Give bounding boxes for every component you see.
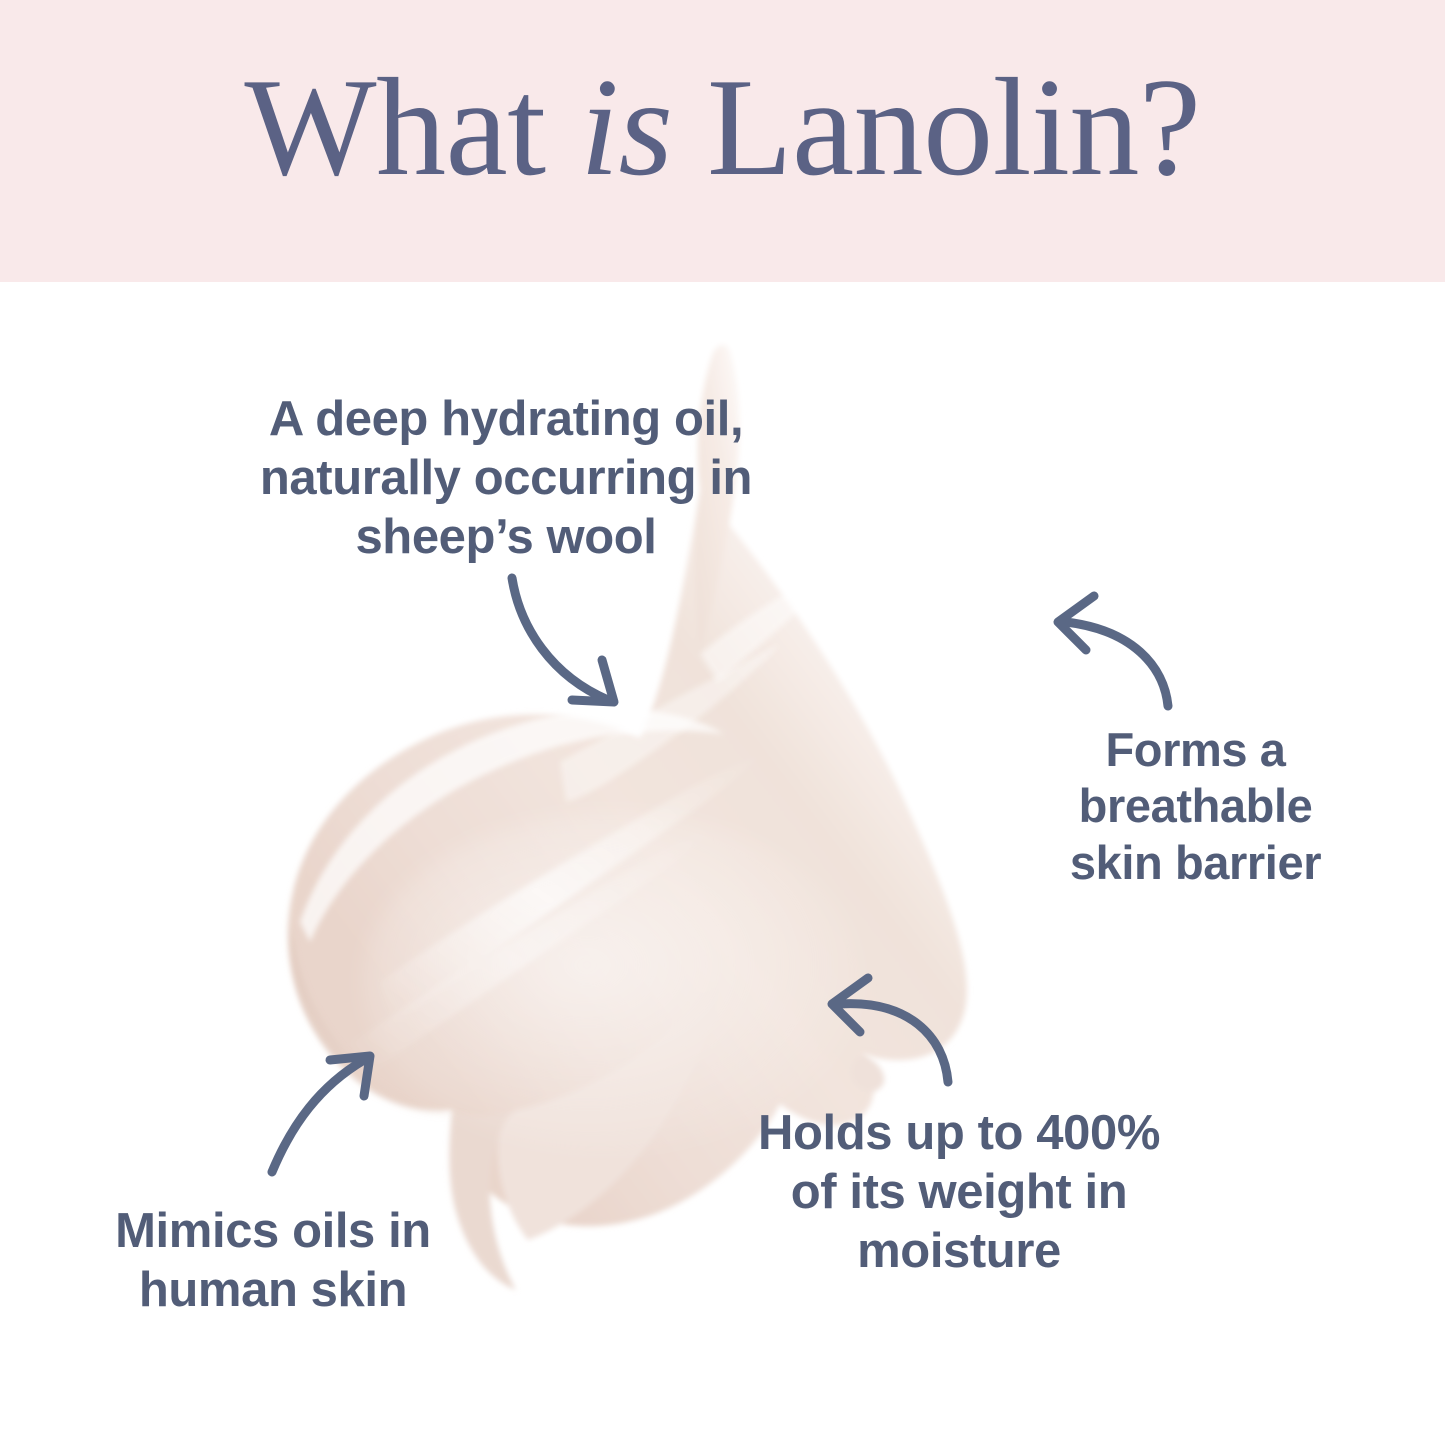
infographic-canvas: What is Lanolin? — [0, 0, 1445, 1445]
page-title: What is Lanolin? — [0, 52, 1445, 203]
annotation-hydrating-oil: A deep hydrating oil, naturally occurrin… — [186, 390, 826, 566]
annotation-mimics-skin-oils: Mimics oils in human skin — [68, 1202, 478, 1320]
page-title-emphasis: is — [580, 50, 672, 205]
page-title-part2: Lanolin? — [672, 50, 1200, 205]
annotation-holds-moisture: Holds up to 400% of its weight in moistu… — [694, 1104, 1224, 1280]
page-title-part1: What — [244, 50, 580, 205]
annotation-breathable-barrier: Forms a breathable skin barrier — [1028, 722, 1363, 891]
